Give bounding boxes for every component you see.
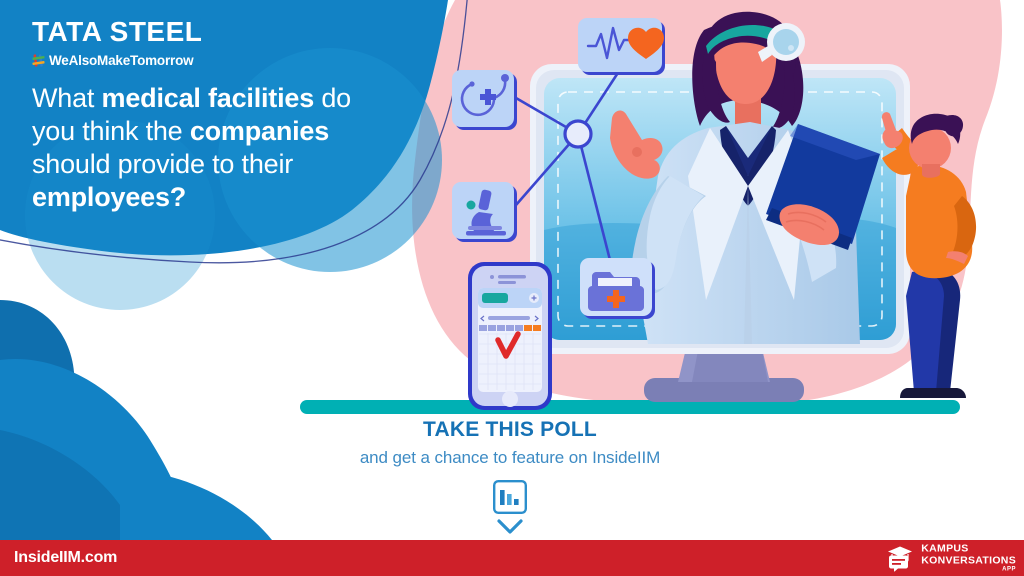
microscope-card <box>452 182 517 242</box>
poster-canvas: TATA STEEL WeAlsoMakeTomorrow What medic… <box>0 0 1024 576</box>
cta-subtitle: and get a chance to feature on InsideIIM <box>310 448 710 468</box>
connection-hub-node <box>565 121 591 147</box>
headline-seg-2: medical facilities <box>102 83 315 113</box>
footer-bar: InsideIIM.com KAMPUS KONVERSATIONS APP <box>0 540 1024 576</box>
call-to-action: TAKE THIS POLL and get a chance to featu… <box>310 418 710 536</box>
phone-calendar <box>468 262 552 410</box>
brand-tagline-text: WeAlsoMakeTomorrow <box>49 53 193 68</box>
headline-seg-6: employees? <box>32 182 186 212</box>
kampus-konversations-logo[interactable]: KAMPUS KONVERSATIONS APP <box>886 544 1016 573</box>
footer-site-link[interactable]: InsideIIM.com <box>14 549 117 567</box>
brand-name-steel: STEEL <box>110 16 203 47</box>
headline-seg-1: What <box>32 83 102 113</box>
floor-bar <box>300 400 960 414</box>
brand-name-tata: TATA <box>32 16 101 47</box>
medical-folder-card <box>580 258 655 319</box>
chevron-down-icon[interactable] <box>496 518 524 536</box>
partner-name-line2: KONVERSATIONS <box>921 555 1016 566</box>
cta-title: TAKE THIS POLL <box>310 418 710 442</box>
multicolor-hash-icon <box>32 54 45 67</box>
partner-name-line1: KAMPUS <box>921 544 1016 555</box>
brand-tagline: WeAlsoMakeTomorrow <box>32 53 392 68</box>
headline-seg-4: companies <box>190 116 329 146</box>
brand-logo: TATA STEEL WeAlsoMakeTomorrow <box>32 18 392 68</box>
page-title: What medical facilities do you think the… <box>32 82 400 214</box>
ecg-heart-card <box>578 18 665 75</box>
partner-name-line3: APP <box>1002 567 1016 573</box>
graduation-cap-speech-bubble-icon <box>886 545 916 571</box>
brand-name: TATA STEEL <box>32 18 392 46</box>
headline-seg-5: should provide to their <box>32 149 293 179</box>
stethoscope-card <box>452 70 517 130</box>
bar-chart-icon[interactable] <box>493 480 527 514</box>
